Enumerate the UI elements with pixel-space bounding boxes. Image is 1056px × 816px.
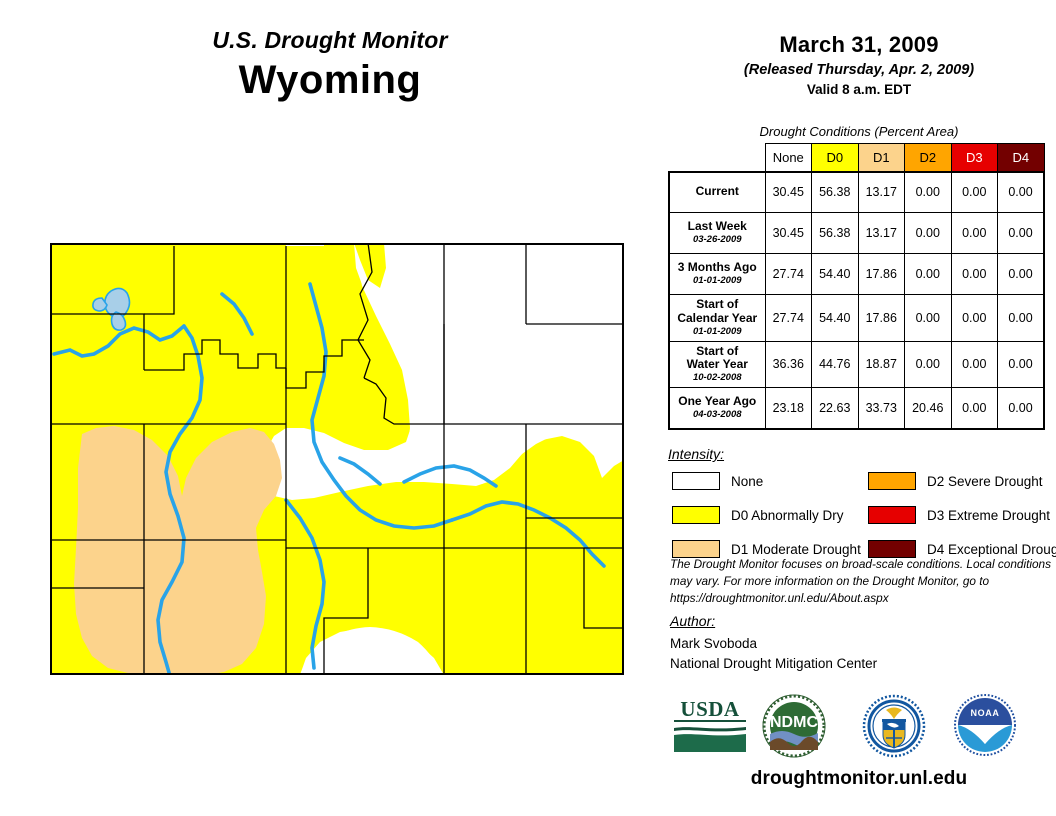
row-label-3: 3 Months Ago01-01-2009 (669, 254, 765, 295)
svg-text:NOAA: NOAA (971, 708, 1000, 718)
table-row: Last Week03-26-200930.4556.3813.170.000.… (669, 213, 1044, 254)
cell-none-row2: 30.45 (765, 213, 812, 254)
row-label-name: 3 Months Ago (674, 261, 761, 275)
table-row: 3 Months Ago01-01-200927.7454.4017.860.0… (669, 254, 1044, 295)
program-title: U.S. Drought Monitor (0, 28, 660, 53)
row-label-name: Start ofWater Year (674, 345, 761, 373)
legend-title: Intensity: (668, 446, 724, 462)
map-layers (50, 243, 624, 676)
row-label-name: Current (674, 185, 761, 199)
column-header-d2: D2 (905, 144, 952, 172)
legend-label-none: None (731, 474, 763, 489)
noaa-logo[interactable]: NOAA (954, 694, 1016, 756)
svg-text:USDA: USDA (680, 697, 740, 721)
author-name: Mark Svoboda (670, 634, 1052, 654)
legend-label-d0: D0 Abnormally Dry (731, 508, 844, 523)
row-label-5: Start ofWater Year10-02-2008 (669, 341, 765, 388)
legend-label-d3: D3 Extreme Drought (927, 508, 1050, 523)
row-label-6: One Year Ago04-03-2008 (669, 388, 765, 429)
table-row: Start ofWater Year10-02-200836.3644.7618… (669, 341, 1044, 388)
cell-d4-row5: 0.00 (998, 341, 1045, 388)
cell-d0-row4: 54.40 (812, 295, 859, 342)
table-corner-cell (669, 144, 765, 172)
legend-label-d1: D1 Moderate Drought (731, 542, 861, 557)
ndmc-logo[interactable]: NDMC (762, 694, 826, 758)
cell-none-row5: 36.36 (765, 341, 812, 388)
cell-d4-row4: 0.00 (998, 295, 1045, 342)
cell-d1-row5: 18.87 (858, 341, 905, 388)
cell-d1-row2: 13.17 (858, 213, 905, 254)
cell-d4-row2: 0.00 (998, 213, 1045, 254)
column-header-d4: D4 (998, 144, 1045, 172)
cell-d0-row5: 44.76 (812, 341, 859, 388)
row-label-date: 01-01-2009 (674, 276, 761, 287)
row-label-date: 10-02-2008 (674, 373, 761, 384)
cell-d3-row2: 0.00 (951, 213, 998, 254)
cell-none-row4: 27.74 (765, 295, 812, 342)
row-label-2: Last Week03-26-2009 (669, 213, 765, 254)
column-header-none: None (765, 144, 812, 172)
valid-date: March 31, 2009 (662, 32, 1056, 58)
cell-d2-row5: 0.00 (905, 341, 952, 388)
cell-d1-row6: 33.73 (858, 388, 905, 429)
row-label-1: Current (669, 172, 765, 213)
row-label-date: 01-01-2009 (674, 327, 761, 338)
cell-d4-row6: 0.00 (998, 388, 1045, 429)
cell-d3-row6: 0.00 (951, 388, 998, 429)
d0-area-east-sliver (602, 460, 624, 675)
department-of-commerce-seal[interactable] (862, 694, 926, 758)
legend-item-d0[interactable]: D0 Abnormally Dry (672, 503, 861, 527)
row-label-name: One Year Ago (674, 395, 761, 409)
usda-logo[interactable]: USDA (670, 694, 750, 756)
column-header-d3: D3 (951, 144, 998, 172)
cell-d3-row3: 0.00 (951, 254, 998, 295)
row-label-name: Last Week (674, 220, 761, 234)
table-row: One Year Ago04-03-200823.1822.6333.7320.… (669, 388, 1044, 429)
drought-conditions-table: None D0 D1 D2 D3 D4 Current30.4556.3813.… (668, 143, 1045, 430)
cell-none-row3: 27.74 (765, 254, 812, 295)
date-block: March 31, 2009 (Released Thursday, Apr. … (662, 32, 1056, 97)
cell-d1-row1: 13.17 (858, 172, 905, 213)
legend-swatch-d0 (672, 506, 720, 524)
cell-d0-row6: 22.63 (812, 388, 859, 429)
legend-item-none[interactable]: None (672, 469, 861, 493)
cell-d2-row3: 0.00 (905, 254, 952, 295)
author-label: Author: (670, 613, 715, 629)
cell-d4-row1: 0.00 (998, 172, 1045, 213)
disclaimer-text: The Drought Monitor focuses on broad-sca… (670, 556, 1052, 606)
cell-d3-row4: 0.00 (951, 295, 998, 342)
cell-d2-row2: 0.00 (905, 213, 952, 254)
cell-d3-row5: 0.00 (951, 341, 998, 388)
table-row: Current30.4556.3813.170.000.000.00 (669, 172, 1044, 213)
table-body: Current30.4556.3813.170.000.000.00Last W… (669, 172, 1044, 429)
cell-d1-row4: 17.86 (858, 295, 905, 342)
table-header-row: None D0 D1 D2 D3 D4 (669, 144, 1044, 172)
legend-swatch-none (672, 472, 720, 490)
cell-none-row6: 23.18 (765, 388, 812, 429)
logo-strip: USDA NDMC (662, 694, 1056, 760)
row-label-name: Start ofCalendar Year (674, 298, 761, 326)
cell-d2-row6: 20.46 (905, 388, 952, 429)
legend-swatch-d2 (868, 472, 916, 490)
website-url[interactable]: droughtmonitor.unl.edu (662, 768, 1056, 790)
legend-item-d3[interactable]: D3 Extreme Drought (868, 503, 1056, 527)
column-header-d1: D1 (858, 144, 905, 172)
table-caption: Drought Conditions (Percent Area) (662, 124, 1056, 139)
released-date: (Released Thursday, Apr. 2, 2009) (662, 62, 1056, 78)
cell-d2-row4: 0.00 (905, 295, 952, 342)
legend-label-d4: D4 Exceptional Drought (927, 542, 1056, 557)
valid-time: Valid 8 a.m. EDT (662, 82, 1056, 97)
drought-monitor-page: U.S. Drought Monitor Wyoming March 31, 2… (0, 0, 1056, 816)
cell-d0-row3: 54.40 (812, 254, 859, 295)
cell-none-row1: 30.45 (765, 172, 812, 213)
row-label-date: 03-26-2009 (674, 235, 761, 246)
map-svg (24, 228, 640, 688)
wyoming-drought-map[interactable] (24, 228, 640, 688)
author-block: Mark Svoboda National Drought Mitigation… (670, 634, 1052, 675)
cell-d0-row2: 56.38 (812, 213, 859, 254)
row-label-date: 04-03-2008 (674, 410, 761, 421)
author-affiliation: National Drought Mitigation Center (670, 654, 1052, 674)
table-row: Start ofCalendar Year01-01-200927.7454.4… (669, 295, 1044, 342)
map-title-block: U.S. Drought Monitor Wyoming (0, 28, 660, 101)
cell-d0-row1: 56.38 (812, 172, 859, 213)
cell-d4-row3: 0.00 (998, 254, 1045, 295)
cell-d3-row1: 0.00 (951, 172, 998, 213)
column-header-d0: D0 (812, 144, 859, 172)
row-label-4: Start ofCalendar Year01-01-2009 (669, 295, 765, 342)
legend-item-d2[interactable]: D2 Severe Drought (868, 469, 1056, 493)
cell-d2-row1: 0.00 (905, 172, 952, 213)
legend-swatch-d3 (868, 506, 916, 524)
legend-label-d2: D2 Severe Drought (927, 474, 1043, 489)
state-title: Wyoming (0, 59, 660, 101)
cell-d1-row3: 17.86 (858, 254, 905, 295)
svg-text:NDMC: NDMC (770, 714, 818, 731)
